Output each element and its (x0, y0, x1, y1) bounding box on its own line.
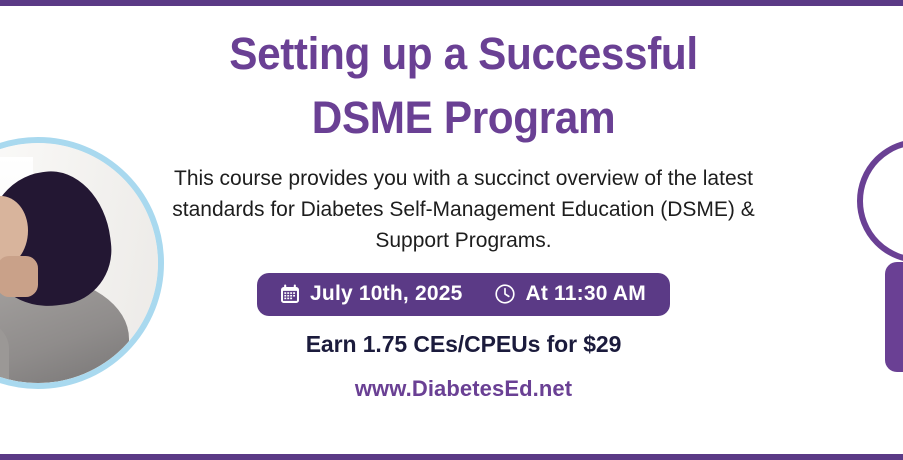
page-title: Setting up a Successful DSME Program (118, 22, 809, 150)
time-group: At 11:30 AM (494, 282, 645, 306)
schedule-badge-wrap: July 10th, 2025 At 11:30 AM (96, 273, 831, 316)
calendar-icon (279, 283, 301, 305)
event-date: July 10th, 2025 (310, 282, 462, 306)
description-line-3: Support Programs. (114, 226, 814, 257)
banner-content: Setting up a Successful DSME Program Thi… (96, 22, 831, 402)
website-url[interactable]: www.DiabetesEd.net (96, 376, 831, 402)
clock-icon (494, 283, 516, 305)
top-purple-rule (0, 0, 903, 6)
bottom-purple-rule (0, 454, 903, 460)
headline-line-2: DSME Program (118, 86, 809, 150)
description-line-2: standards for Diabetes Self-Management E… (114, 195, 814, 226)
purple-circle-outline-icon (857, 139, 903, 263)
credits-price-text: Earn 1.75 CEs/CPEUs for $29 (96, 331, 831, 358)
event-time: At 11:30 AM (525, 282, 645, 306)
date-group: July 10th, 2025 (279, 282, 462, 306)
schedule-badge: July 10th, 2025 At 11:30 AM (257, 273, 670, 316)
course-description: This course provides you with a succinct… (114, 164, 814, 257)
purple-rounded-bar-shape (885, 262, 903, 372)
headline-line-1: Setting up a Successful (118, 22, 809, 86)
photo-person-neck (0, 256, 38, 297)
description-line-1: This course provides you with a succinct… (114, 164, 814, 195)
webinar-promo-banner: Setting up a Successful DSME Program Thi… (0, 0, 903, 460)
